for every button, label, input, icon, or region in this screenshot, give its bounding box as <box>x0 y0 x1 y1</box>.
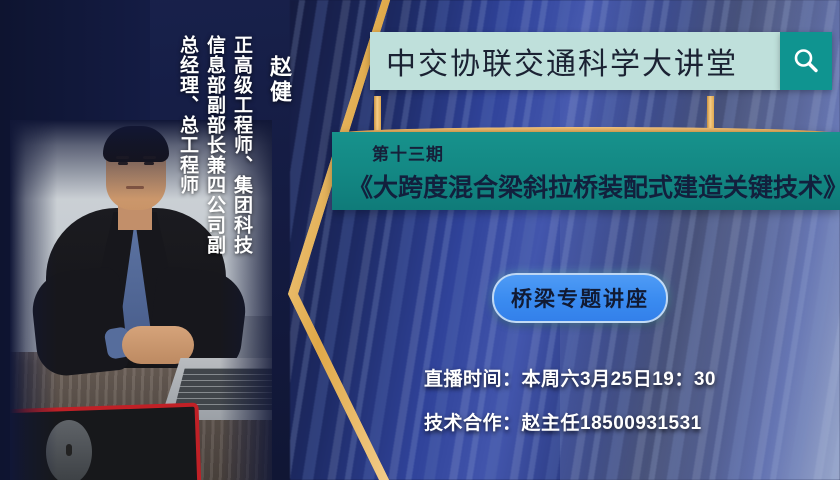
search-icon <box>791 46 821 76</box>
topic-badge-button[interactable]: 桥梁专题讲座 <box>492 273 668 323</box>
topic-badge-label: 桥梁专题讲座 <box>511 283 649 313</box>
speaker-name: 赵健 <box>263 55 295 105</box>
page-title: 中交协联交通科学大讲堂 <box>370 39 738 83</box>
issue-number: 第十三期 <box>372 140 444 165</box>
lecture-title: 《大跨度混合梁斜拉桥装配式建造关键技术》 <box>348 168 840 204</box>
signboard-leg-left <box>374 96 381 132</box>
cooperation-contact: 技术合作：赵主任18500931531 <box>424 408 702 435</box>
speaker-title-line-3: 总经理、总工程师 <box>174 35 201 195</box>
broadcast-time: 直播时间：本周六3月25日19：30 <box>424 364 716 391</box>
title-banner: 中交协联交通科学大讲堂 <box>370 32 780 90</box>
signboard-leg-right <box>707 96 714 132</box>
search-button[interactable] <box>780 32 832 90</box>
speaker-title-line-2: 信息部副部长兼四公司副 <box>201 35 228 255</box>
poster-canvas: 赵健 正高级工程师、集团科技 信息部副部长兼四公司副 总经理、总工程师 中交协联… <box>0 0 840 480</box>
speaker-title-line-1: 正高级工程师、集团科技 <box>228 35 255 255</box>
